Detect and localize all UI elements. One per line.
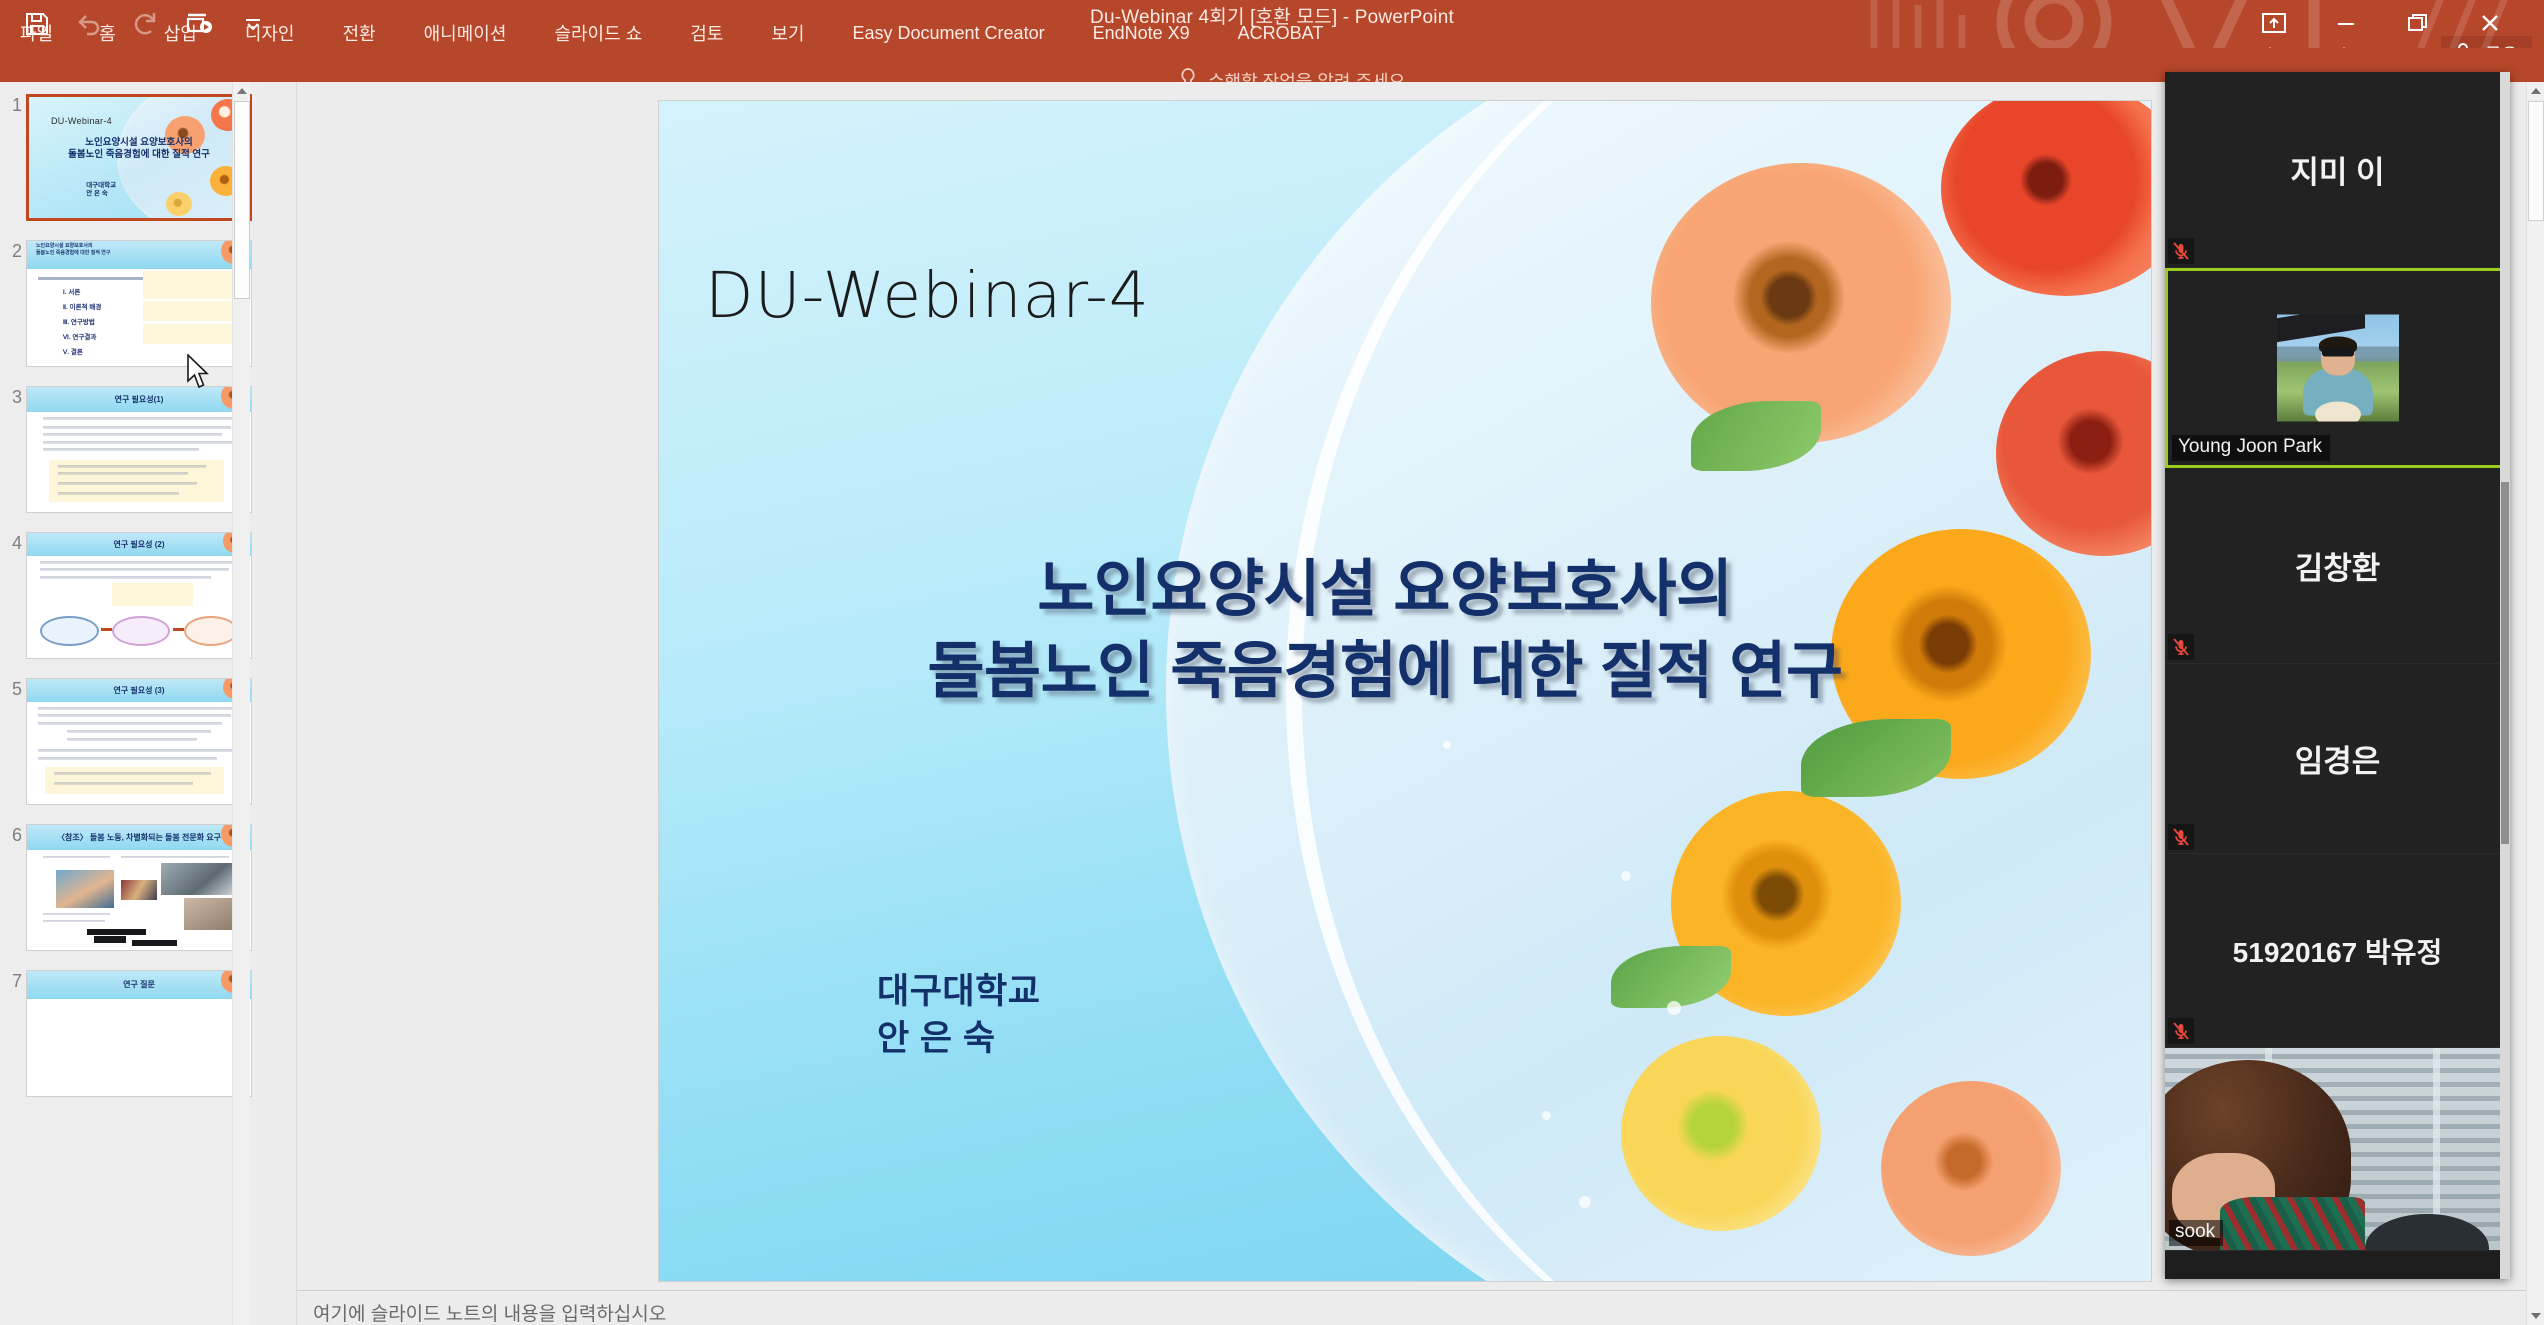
mini-slide-4: 연구 필요성 (2) [27,533,251,658]
tab-transitions[interactable]: 전환 [319,16,400,50]
slide-thumbnail-6[interactable]: 6 〈참조〉 돌봄 노동, 차별화되는 돌봄 전문화 요구 [0,824,262,951]
tab-insert[interactable]: 삽입 [140,16,221,50]
editor-vertical-scrollbar[interactable] [2526,82,2544,1325]
mini-slide-1-kicker: DU-Webinar-4 [51,116,112,126]
tab-design[interactable]: 디자인 [221,16,319,50]
ribbon-tab-strip: 파일 홈 삽입 디자인 전환 애니메이션 슬라이드 쇼 검토 보기 Easy D… [0,48,2544,82]
mini-slide-6: 〈참조〉 돌봄 노동, 차별화되는 돌봄 전문화 요구 [27,825,251,950]
participant-name: Young Joon Park [2172,435,2330,461]
share-button[interactable]: 공유 [2441,36,2532,48]
microphone-muted-icon [2168,238,2194,264]
slide-number-7: 7 [0,970,22,1097]
slide-thumbnail-7-preview[interactable]: 연구 질문 [26,970,252,1097]
slide-number-4: 4 [0,532,22,659]
slide-title-line-1: 노인요양시설 요양보호사의 [659,549,2111,631]
tab-easy-document-creator[interactable]: Easy Document Creator [829,16,1069,50]
zoom-participant-panel[interactable]: 지미 이 Young Joon Park 김창환 [2165,72,2510,1279]
slide-author-affiliation: 대구대학교 [877,968,1041,1015]
zoom-panel-scrollbar[interactable] [2500,72,2510,1279]
microphone-muted-icon [2168,824,2194,850]
slide-thumbnail-2[interactable]: 2 노인요양시설 요양보호사의돌봄노인 죽음경험에 대한 질적 연구 Ⅰ. 서론 [0,240,262,367]
ribbon-tabs: 파일 홈 삽입 디자인 전환 애니메이션 슬라이드 쇼 검토 보기 Easy D… [0,16,1347,50]
tab-acrobat[interactable]: ACROBAT [1214,16,1348,50]
slide-number-1: 1 [0,94,22,221]
workspace: 1 DU-Webinar-4 노인요양시설 요양보호사의돌봄노인 죽음경험에 대… [0,82,2544,1325]
slide-number-5: 5 [0,678,22,805]
zoom-participant-tile[interactable]: 지미 이 [2165,72,2510,268]
mini-slide-7-banner: 연구 질문 [27,971,251,999]
slide-thumbnail-3[interactable]: 3 연구 필요성(1) [0,386,262,513]
slide-author-block[interactable]: 대구대학교 안 은 숙 [877,968,1041,1063]
tab-review[interactable]: 검토 [666,16,747,50]
editor-scroll-up-arrow-icon[interactable] [2527,82,2544,100]
mini-slide-5-banner: 연구 필요성 (3) [27,679,251,702]
zoom-participant-tile[interactable]: 김창환 [2165,468,2510,664]
participant-name: 51920167 박유정 [2165,854,2510,1047]
zoom-participant-tile-active-speaker[interactable]: Young Joon Park [2165,268,2510,468]
participant-avatar-photo [2277,315,2399,422]
slide-thumbnail-2-preview[interactable]: 노인요양시설 요양보호사의돌봄노인 죽음경험에 대한 질적 연구 Ⅰ. 서론 Ⅱ… [26,240,252,367]
mini-slide-5: 연구 필요성 (3) [27,679,251,804]
mini-slide-3-banner: 연구 필요성(1) [27,387,251,412]
slide-author-name: 안 은 숙 [877,1015,1041,1062]
thumbnail-scrollbar-thumb[interactable] [234,101,250,299]
slide-thumbnail-6-preview[interactable]: 〈참조〉 돌봄 노동, 차별화되는 돌봄 전문화 요구 [26,824,252,951]
zoom-participant-tile[interactable]: sook [2165,1048,2510,1251]
slide-thumbnail-3-preview[interactable]: 연구 필요성(1) [26,386,252,513]
slide-thumbnail-1[interactable]: 1 DU-Webinar-4 노인요양시설 요양보호사의돌봄노인 죽음경험에 대… [0,94,262,221]
share-label: 공유 [2485,41,2518,48]
tab-file[interactable]: 파일 [0,16,75,50]
tab-endnote-x9[interactable]: EndNote X9 [1069,16,1214,50]
slide-thumbnail-1-preview[interactable]: DU-Webinar-4 노인요양시설 요양보호사의돌봄노인 죽음경험에 대한 … [26,94,252,221]
slide-thumbnail-5[interactable]: 5 연구 필요성 (3) [0,678,262,805]
slide-number-6: 6 [0,824,22,951]
notes-placeholder: 여기에 슬라이드 노트의 내용을 입력하십시오 [313,1299,666,1325]
slide-title-line-2: 돌봄노인 죽음경험에 대한 질적 연구 [659,631,2111,713]
mini-slide-1: DU-Webinar-4 노인요양시설 요양보호사의돌봄노인 죽음경험에 대한 … [29,97,249,218]
account-name[interactable]: Park Young_joon [2240,38,2376,48]
sparkle-1 [1621,871,1631,881]
slide-thumbnail-7[interactable]: 7 연구 질문 [0,970,262,1097]
slide-thumbnail-4[interactable]: 4 연구 필요성 (2) [0,532,262,659]
slide-thumbnail-pane[interactable]: 1 DU-Webinar-4 노인요양시설 요양보호사의돌봄노인 죽음경험에 대… [0,82,262,1325]
flower-decoration-peach-bottom [1881,1081,2061,1256]
sparkle-4 [1579,1196,1591,1208]
tab-animations[interactable]: 애니메이션 [400,16,531,50]
microphone-muted-icon [2168,634,2194,660]
microphone-muted-icon [2168,1018,2194,1044]
mini-slide-1-author: 대구대학교안 은 숙 [86,182,116,199]
powerpoint-window: Du-Webinar 4회기 [호환 모드] - PowerPoint [0,0,2544,1325]
slide-canvas[interactable]: DU-Webinar-4 노인요양시설 요양보호사의 돌봄노인 죽음경험에 대한… [659,101,2151,1281]
sparkle-3 [1542,1111,1551,1120]
mini-slide-2: 노인요양시설 요양보호사의돌봄노인 죽음경험에 대한 질적 연구 Ⅰ. 서론 Ⅱ… [27,241,251,366]
participant-name: 지미 이 [2165,72,2510,267]
slide-kicker-text[interactable]: DU-Webinar-4 [705,259,1150,332]
person-shirt [2220,1197,2365,1250]
mini-slide-6-banner: 〈참조〉 돌봄 노동, 차별화되는 돌봄 전문화 요구 [27,825,251,850]
mini-slide-4-banner: 연구 필요성 (2) [27,533,251,556]
mini-slide-1-title: 노인요양시설 요양보호사의돌봄노인 죽음경험에 대한 질적 연구 [47,137,232,161]
slide-number-2: 2 [0,240,22,367]
slide-number-3: 3 [0,386,22,513]
participant-name: sook [2169,1220,2223,1246]
tab-home[interactable]: 홈 [75,16,140,50]
zoom-participant-tile[interactable]: 임경은 [2165,664,2510,854]
mini-slide-3: 연구 필요성(1) [27,387,251,512]
editor-scroll-down-arrow-icon[interactable] [2527,1307,2544,1325]
slide-title-text[interactable]: 노인요양시설 요양보호사의 돌봄노인 죽음경험에 대한 질적 연구 [659,549,2111,714]
thumbnail-pane-scrollbar[interactable] [232,82,250,1325]
zoom-participant-tile[interactable]: 51920167 박유정 [2165,854,2510,1048]
slide-thumbnail-4-preview[interactable]: 연구 필요성 (2) [26,532,252,659]
sparkle-5 [1443,741,1451,749]
slide-thumbnail-5-preview[interactable]: 연구 필요성 (3) [26,678,252,805]
flower-decoration-yellow-bottom [1621,1036,1821,1231]
zoom-panel-scrollbar-thumb[interactable] [2501,482,2509,844]
mini-slide-7: 연구 질문 [27,971,251,1096]
tab-view[interactable]: 보기 [747,16,828,50]
tab-slideshow[interactable]: 슬라이드 쇼 [530,16,666,50]
mouse-cursor [186,354,212,390]
participant-name: 임경은 [2165,664,2510,853]
notes-pane[interactable]: 여기에 슬라이드 노트의 내용을 입력하십시오 [297,1290,2544,1325]
sparkle-2 [1667,1001,1681,1015]
participant-name: 김창환 [2165,468,2510,663]
editor-scrollbar-thumb[interactable] [2528,101,2544,221]
scroll-up-arrow-icon[interactable] [233,82,251,100]
